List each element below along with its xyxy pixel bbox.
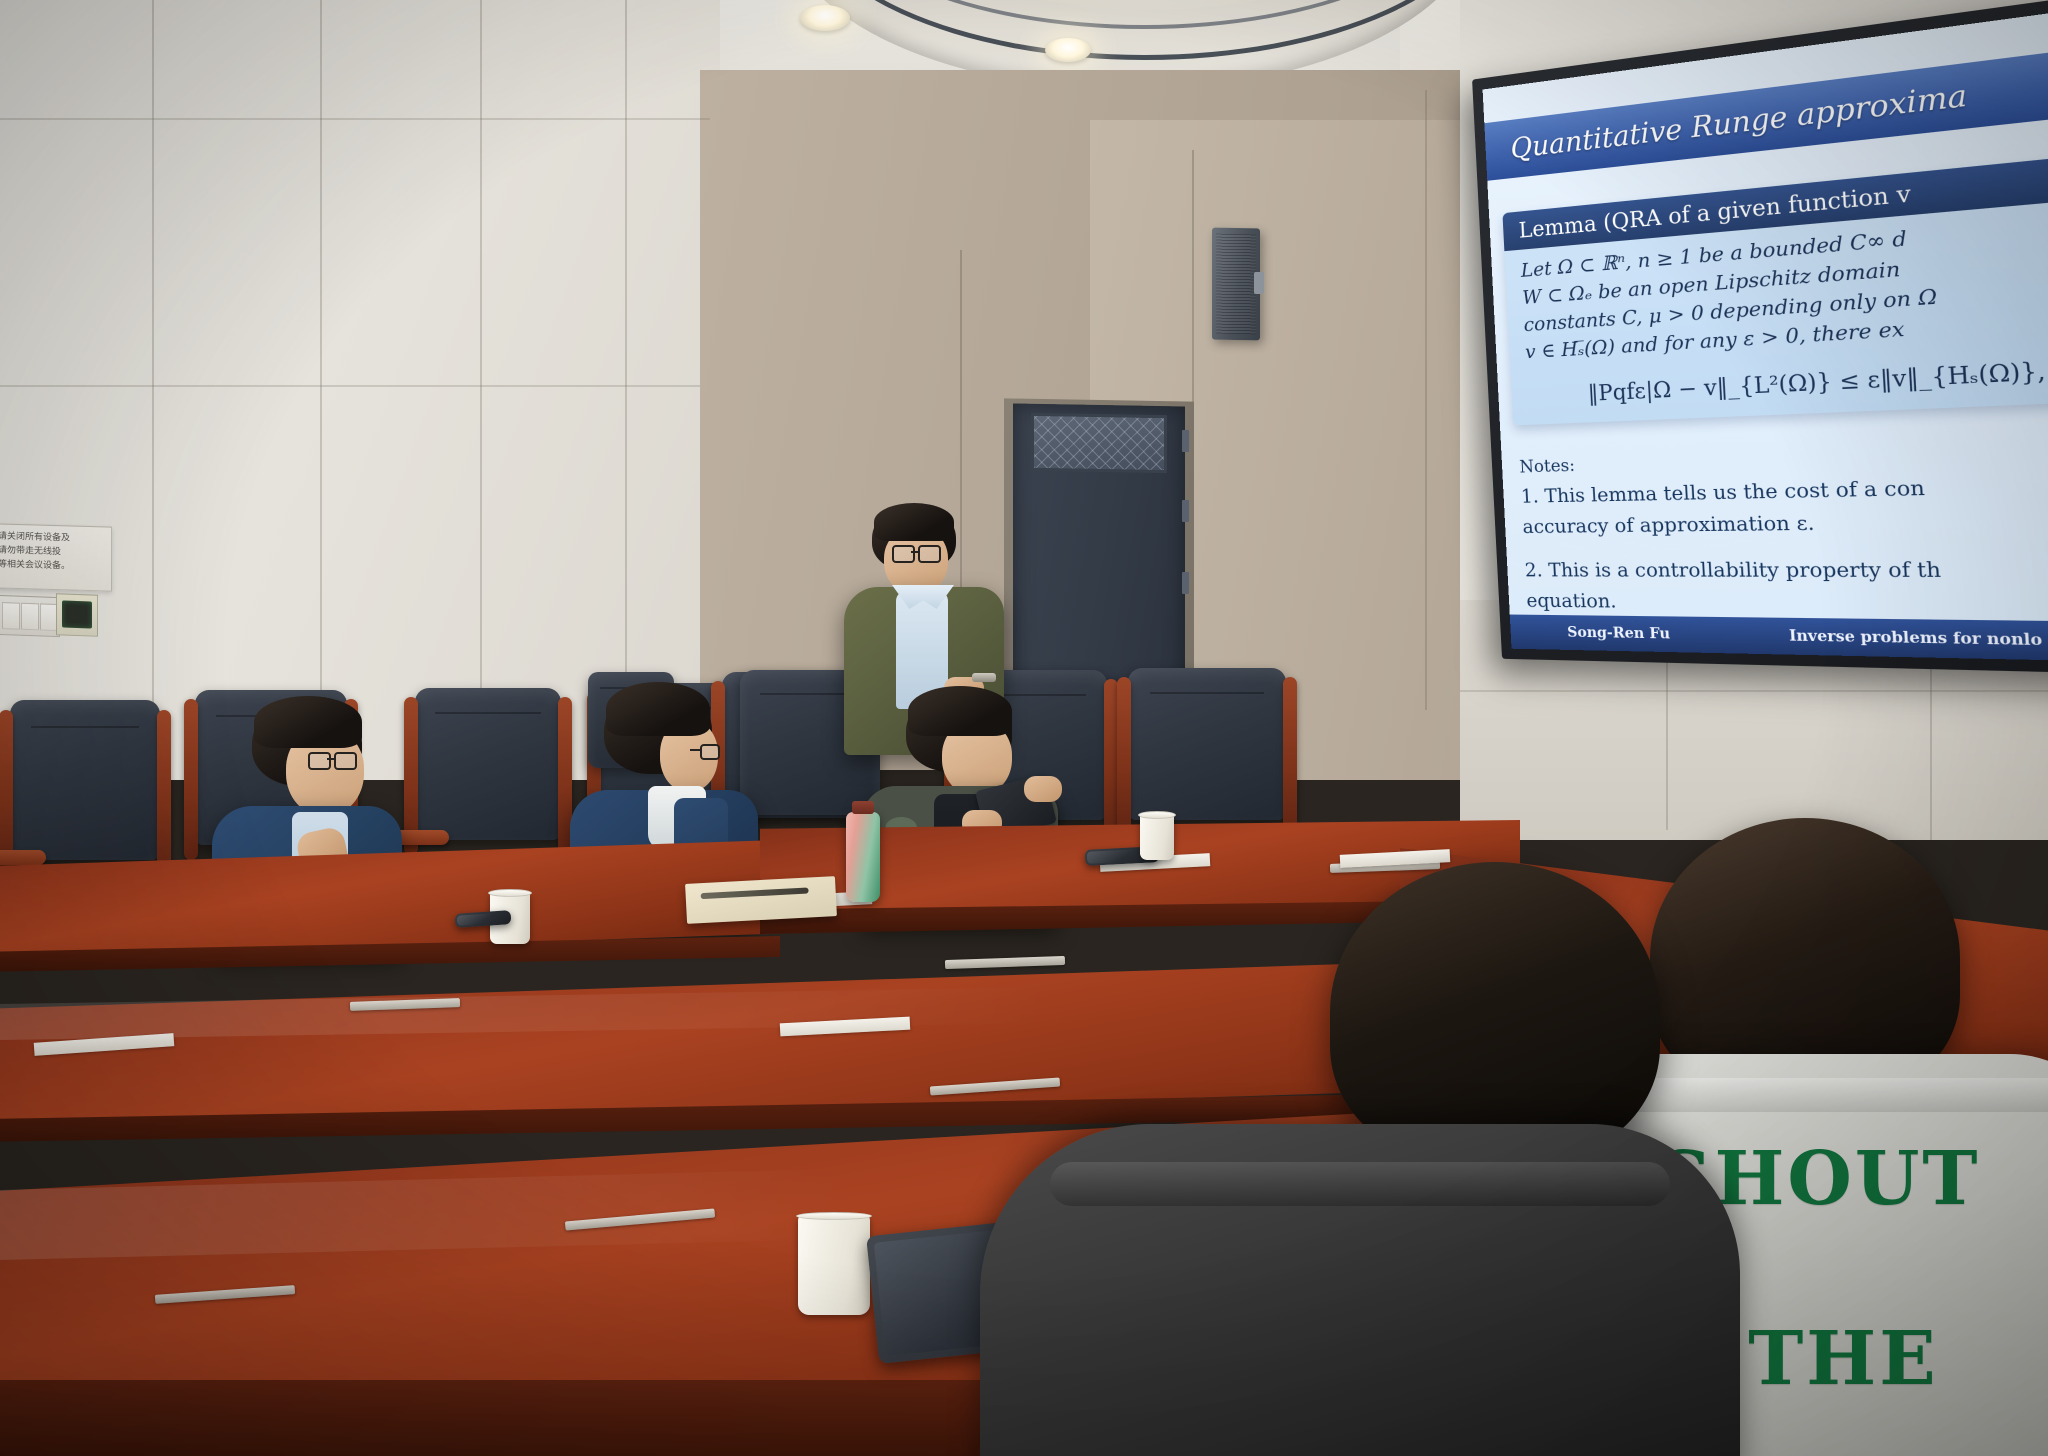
chair-back <box>1128 668 1286 820</box>
conference-room-photo: 请关闭所有设备及 请勿带走无线投 等相关会议设备。 Quantitative R… <box>0 0 2048 1456</box>
light-switch-1[interactable] <box>2 602 20 630</box>
sign-line-3: 等相关会议设备。 <box>0 558 106 575</box>
chair-armrest <box>0 850 46 865</box>
foreground1-hood-fold <box>1050 1162 1670 1206</box>
wall-panel-seam <box>1930 660 1932 840</box>
chair-frame-left <box>184 699 198 860</box>
note-2: 2. This is a controllability property of… <box>1524 554 2048 587</box>
glasses-lens-right <box>918 545 941 563</box>
thermostat-display <box>62 600 92 628</box>
bottle-cap <box>852 801 874 814</box>
attendee1-hair-top <box>254 696 362 748</box>
presenter-glasses <box>892 545 950 561</box>
presenter-clicker[interactable] <box>972 673 996 682</box>
attendee3-hand-right <box>1024 776 1062 802</box>
light-switch-2[interactable] <box>21 603 39 631</box>
chair-frame-right <box>157 710 171 876</box>
wall-panel-seam <box>1425 90 1427 710</box>
wall-panel-seam <box>0 385 700 387</box>
glasses-lens-right <box>334 752 357 770</box>
door-hinge-bottom <box>1182 572 1189 594</box>
thermostat-panel[interactable] <box>56 593 98 636</box>
downlight-1 <box>800 5 850 31</box>
attendee2-hair-top <box>606 682 710 736</box>
person-foreground-1 <box>1310 862 1730 1456</box>
presentation-display[interactable]: Quantitative Runge approxima Lemma (QRA … <box>1483 2 2048 663</box>
beamer-slide: Quantitative Runge approxima Lemma (QRA … <box>1483 2 2048 663</box>
glasses-bridge <box>911 551 919 553</box>
wall-speaker <box>1212 228 1260 341</box>
door-hinge-mid <box>1182 500 1189 522</box>
glasses-lens-left <box>892 545 915 563</box>
wall-panel-seam <box>320 0 322 760</box>
speaker-bracket <box>1254 272 1264 294</box>
chair-frame-right <box>1104 679 1118 835</box>
wall-panel-seam <box>480 0 482 740</box>
wall-panel-seam <box>0 118 710 120</box>
paper-cup[interactable] <box>1140 814 1174 860</box>
wall-panel-seam <box>1666 640 1668 830</box>
glasses-bridge <box>327 758 335 760</box>
glasses-bridge <box>690 749 700 751</box>
door-lattice-window <box>1031 413 1167 473</box>
chair-frame-right <box>1283 677 1297 835</box>
chair[interactable] <box>1128 668 1286 820</box>
downlight-2 <box>1045 38 1091 62</box>
glasses-lens-left <box>308 752 331 770</box>
notebook[interactable] <box>685 876 837 924</box>
attendee1-glasses <box>308 752 364 768</box>
wall-left-white <box>0 0 720 780</box>
wall-panel-seam <box>1460 690 2048 692</box>
light-switch-plate[interactable] <box>0 595 60 637</box>
footer-talk-title: Inverse problems for nonlo <box>1670 626 2043 650</box>
presenter-hair-fringe <box>874 503 954 541</box>
attendee3-hair-top <box>908 686 1012 736</box>
glasses-lens-right <box>700 744 720 760</box>
door-hinge-top <box>1182 430 1189 452</box>
wall-notice-sign: 请关闭所有设备及 请勿带走无线投 等相关会议设备。 <box>0 523 112 591</box>
attendee2-glasses <box>686 744 726 758</box>
footer-author: Song-Ren Fu <box>1510 624 1670 643</box>
chair-frame-left <box>1117 677 1131 835</box>
chair[interactable] <box>10 700 160 860</box>
slide-lemma-block: Lemma (QRA of a given function v Let Ω ⊂… <box>1502 151 2048 426</box>
water-bottle[interactable] <box>846 812 880 902</box>
chair-back <box>10 700 160 860</box>
wall-panel-seam <box>625 0 627 720</box>
pen[interactable] <box>701 888 809 900</box>
foreground1-hair <box>1330 862 1660 1162</box>
table-mic-strip <box>945 956 1065 969</box>
paper-cup-foreground[interactable] <box>798 1215 870 1315</box>
